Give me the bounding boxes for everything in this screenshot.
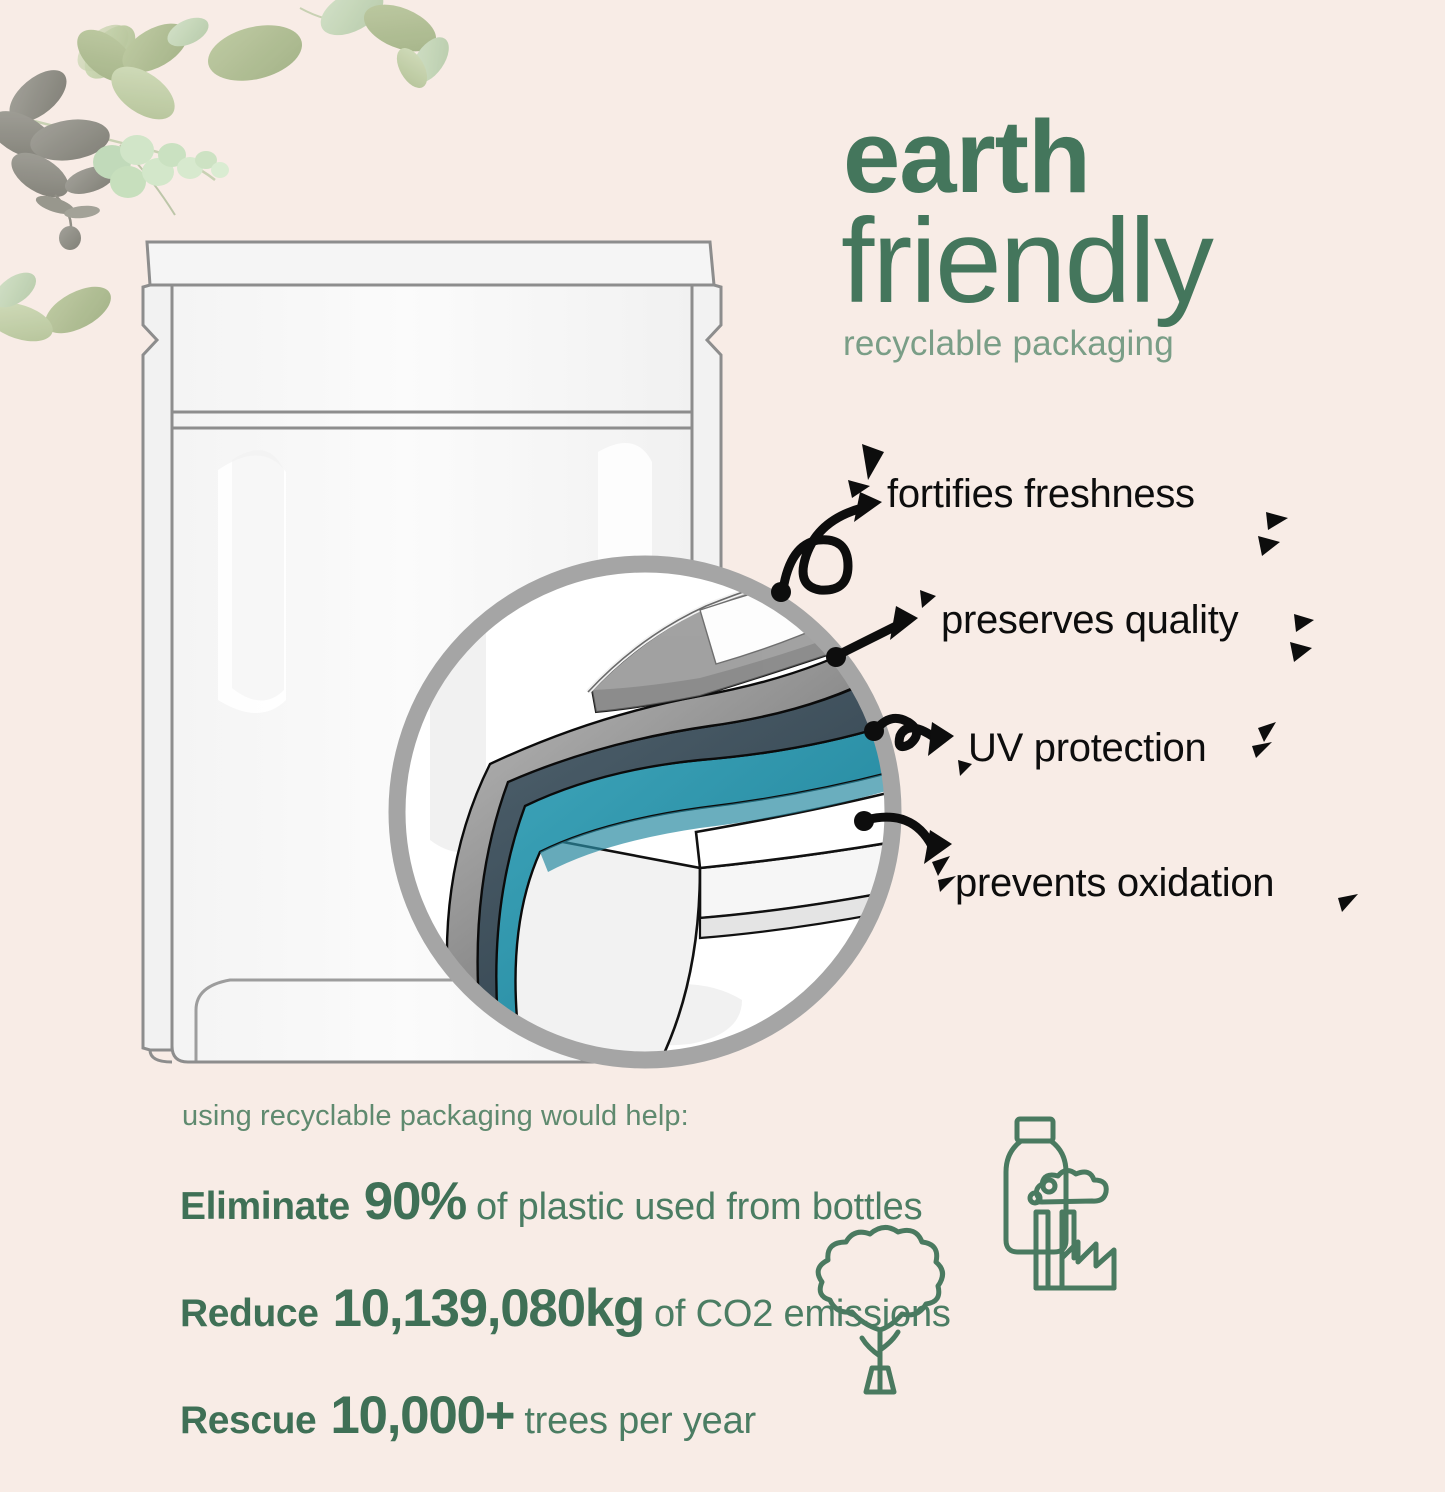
stats-lead-text: using recyclable packaging would help: — [182, 1100, 1240, 1133]
stat-verb: Eliminate — [180, 1185, 350, 1229]
anchor-dot-1 — [771, 582, 791, 602]
stat-tail: of CO2 emissions — [654, 1293, 951, 1336]
stat-verb: Reduce — [180, 1292, 318, 1336]
pouch-body — [172, 285, 692, 1062]
magnifier-ring — [397, 564, 893, 1060]
headline-line-1: earth — [835, 110, 1395, 205]
film-layer-uv — [484, 726, 892, 1048]
leaf-foliage-decoration — [0, 0, 470, 380]
stat-verb: Rescue — [180, 1399, 316, 1443]
loop-arrow-icon-3 — [876, 718, 938, 746]
film-layer-inner-seal — [489, 830, 700, 1062]
curved-arrow-icon-2 — [838, 624, 900, 655]
curved-arrow-icon-4 — [866, 817, 932, 846]
magnifier-lens — [397, 564, 893, 1060]
arrowhead-1 — [854, 492, 882, 522]
pouch-bottom-gusset — [196, 980, 660, 1062]
stat-row-rescue: Rescue 10,000+ trees per year — [180, 1385, 1240, 1446]
anchor-dot-4 — [854, 811, 874, 831]
feature-label-prevents-oxidation: prevents oxidation — [955, 861, 1274, 906]
film-layer-laminate — [696, 790, 905, 868]
arrowhead-2 — [890, 606, 918, 640]
pouch-top-flap — [147, 242, 714, 285]
stat-tail: trees per year — [524, 1400, 756, 1443]
stat-row-eliminate: Eliminate 90% of plastic used from bottl… — [180, 1171, 1240, 1232]
arrowhead-3 — [928, 722, 954, 756]
pouch-right-edge — [692, 285, 721, 1050]
pouch-highlight-right — [598, 443, 652, 672]
film-flap-upper — [592, 560, 880, 712]
pouch-highlight-left — [218, 455, 286, 713]
stat-tail: of plastic used from bottles — [476, 1186, 922, 1229]
headline-block: earth friendly recyclable packaging — [835, 110, 1395, 364]
stat-value: 10,000+ — [330, 1385, 514, 1446]
stat-row-reduce: Reduce 10,139,080kg of CO2 emissions — [180, 1278, 1240, 1339]
headline-subtitle: recyclable packaging — [843, 324, 1395, 364]
headline-line-2: friendly — [835, 205, 1395, 318]
pouch-left-edge — [143, 285, 172, 1050]
film-layer-barrier — [465, 676, 886, 1045]
stat-value: 10,139,080kg — [332, 1278, 644, 1339]
arrowhead-4 — [924, 830, 952, 864]
stats-block: using recyclable packaging would help: E… — [180, 1100, 1240, 1492]
stat-value: 90% — [364, 1171, 466, 1232]
infographic-canvas: earth friendly recyclable packaging fort… — [0, 0, 1445, 1446]
anchor-dot-3 — [864, 721, 884, 741]
curly-arrow-icon-1 — [783, 508, 862, 590]
feature-label-fortifies-freshness: fortifies freshness — [887, 472, 1195, 517]
film-layer-outer — [447, 640, 878, 1038]
feature-label-uv-protection: UV protection — [968, 726, 1206, 771]
feature-label-preserves-quality: preserves quality — [941, 598, 1238, 643]
anchor-dot-2 — [826, 647, 846, 667]
